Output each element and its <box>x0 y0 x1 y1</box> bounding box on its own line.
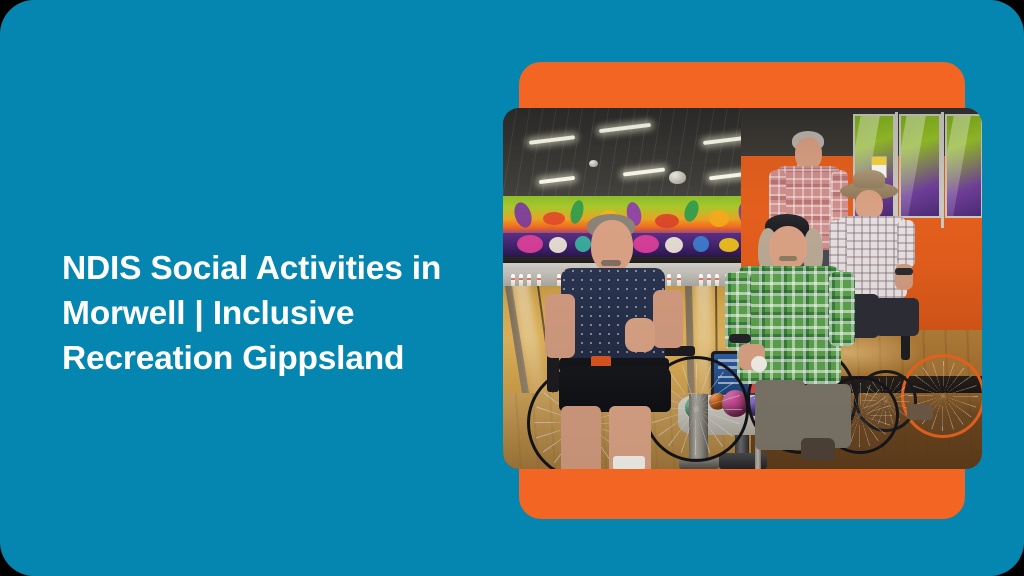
slide-canvas: NDIS Social Activities in Morwell | Incl… <box>0 0 1024 576</box>
wristwatch <box>729 334 751 343</box>
window-pane <box>945 114 982 218</box>
slide-background: NDIS Social Activities in Morwell | Incl… <box>0 0 1024 576</box>
window-pane <box>899 114 941 218</box>
photo-scene <box>503 108 982 469</box>
held-object <box>751 356 767 372</box>
moustache <box>779 256 797 261</box>
wristwatch <box>895 268 913 275</box>
moustache <box>601 260 621 266</box>
page-title: NDIS Social Activities in Morwell | Incl… <box>62 246 462 381</box>
hero-photo <box>503 108 982 469</box>
